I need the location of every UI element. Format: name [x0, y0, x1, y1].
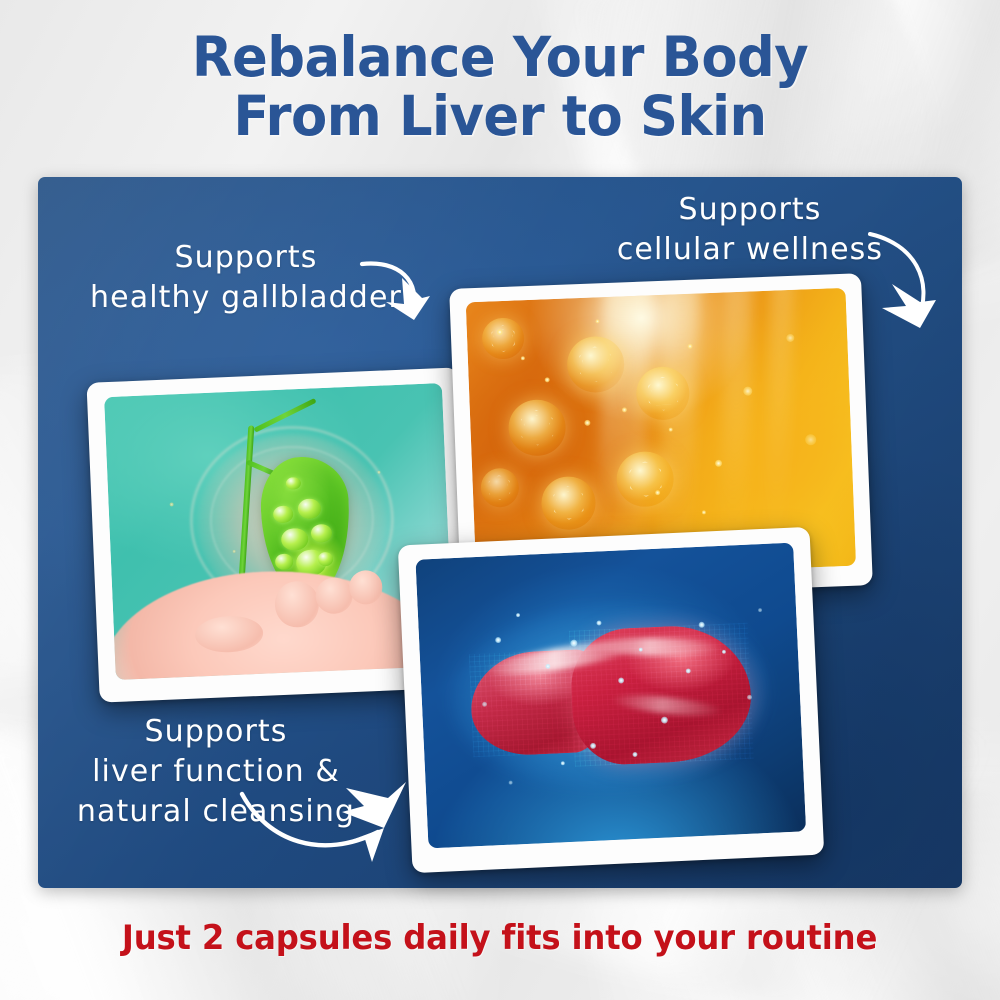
- liver-organ: [468, 623, 754, 771]
- liver-photo-card[interactable]: [398, 527, 824, 873]
- molecule-sphere: [541, 476, 596, 531]
- molecule-sphere: [480, 467, 519, 507]
- sparkle: [661, 716, 668, 723]
- sparkle: [618, 678, 624, 684]
- label-supports-liver-function: Supports liver function & natural cleans…: [66, 712, 366, 833]
- headline-line-2: From Liver to Skin: [20, 87, 980, 146]
- sparkle: [702, 510, 706, 514]
- sparkle: [743, 386, 752, 395]
- sparkle: [545, 377, 550, 382]
- bile-bubble: [286, 477, 301, 490]
- bile-bubble: [273, 505, 293, 523]
- bile-bubble: [275, 554, 293, 570]
- label-line-2: liver function &: [66, 752, 366, 792]
- footer-callout: Just 2 capsules daily fits into your rou…: [0, 918, 1000, 958]
- infographic-canvas: Rebalance Your Body From Liver to Skin: [0, 0, 1000, 1000]
- sparkle: [758, 608, 762, 612]
- sparkle: [584, 420, 590, 426]
- label-line-2: healthy gallbladder: [86, 278, 406, 318]
- bile-bubble: [311, 524, 333, 543]
- label-line-1: Supports: [86, 238, 406, 278]
- liver-photo: [415, 543, 806, 849]
- headline-line-1: Rebalance Your Body: [20, 28, 980, 87]
- molecule-sphere: [508, 399, 567, 457]
- label-line-1: Supports: [600, 190, 900, 230]
- sparkle: [545, 664, 550, 669]
- molecule-sphere: [482, 317, 525, 360]
- bile-bubble: [281, 527, 308, 551]
- sparkle: [805, 434, 816, 445]
- sparkle: [786, 334, 794, 342]
- bile-bubble: [317, 552, 333, 567]
- label-supports-healthy-gallbladder: Supports healthy gallbladder: [86, 238, 406, 318]
- label-line-2: cellular wellness: [600, 230, 900, 270]
- sparkle: [169, 502, 173, 506]
- footer-text: Just 2 capsules daily fits into your rou…: [122, 918, 877, 958]
- sparkle: [570, 639, 577, 646]
- sparkle: [698, 622, 704, 628]
- sparkle: [596, 320, 600, 324]
- headline: Rebalance Your Body From Liver to Skin: [0, 28, 1000, 146]
- label-line-3: natural cleansing: [66, 792, 366, 832]
- label-supports-cellular-wellness: Supports cellular wellness: [600, 190, 900, 270]
- label-line-1: Supports: [66, 712, 366, 752]
- sparkle: [495, 637, 501, 643]
- sparkle: [516, 613, 520, 617]
- sparkle: [521, 356, 525, 360]
- bile-bubble: [298, 499, 322, 520]
- sparkle: [509, 781, 513, 785]
